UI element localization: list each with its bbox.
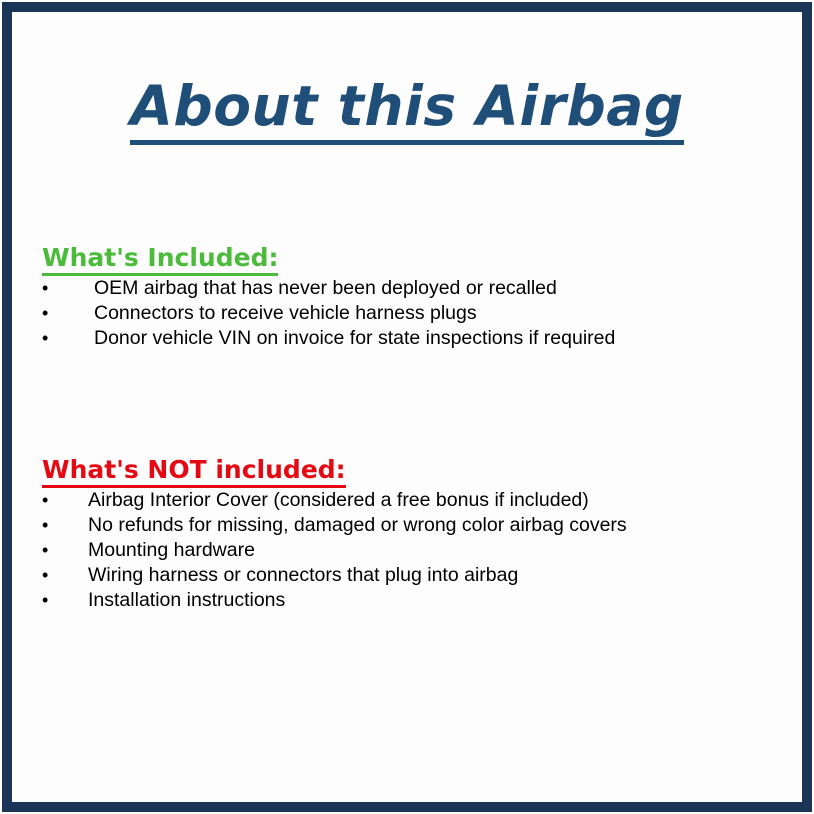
list-item: • Connectors to receive vehicle harness … (42, 301, 782, 326)
page-title: About this Airbag (130, 76, 683, 145)
list-item: • Wiring harness or connectors that plug… (42, 563, 782, 588)
bullet-icon: • (42, 276, 94, 301)
not-included-bullet-list: • Airbag Interior Cover (considered a fr… (42, 488, 782, 613)
list-item-label: No refunds for missing, damaged or wrong… (88, 513, 627, 538)
section-whats-not-included: What's NOT included: • Airbag Interior C… (42, 456, 782, 613)
list-item-label: Installation instructions (88, 588, 285, 613)
list-item: • No refunds for missing, damaged or wro… (42, 513, 782, 538)
list-item: • OEM airbag that has never been deploye… (42, 276, 782, 301)
document-content-area: About this Airbag What's Included: • OEM… (12, 12, 802, 802)
included-bullet-list: • OEM airbag that has never been deploye… (42, 276, 782, 351)
bullet-icon: • (42, 588, 88, 613)
list-item-label: Mounting hardware (88, 538, 255, 563)
list-item: • Airbag Interior Cover (considered a fr… (42, 488, 782, 513)
list-item-label: OEM airbag that has never been deployed … (94, 276, 557, 301)
bullet-icon: • (42, 538, 88, 563)
bullet-icon: • (42, 513, 88, 538)
section-heading-not-included: What's NOT included: (42, 456, 346, 488)
list-item-label: Donor vehicle VIN on invoice for state i… (94, 326, 615, 351)
bullet-icon: • (42, 488, 88, 513)
list-item-label: Airbag Interior Cover (considered a free… (88, 488, 589, 513)
section-whats-included: What's Included: • OEM airbag that has n… (42, 244, 782, 351)
list-item: • Mounting hardware (42, 538, 782, 563)
section-heading-included: What's Included: (42, 244, 278, 276)
list-item: • Donor vehicle VIN on invoice for state… (42, 326, 782, 351)
document-border-frame: About this Airbag What's Included: • OEM… (2, 2, 812, 812)
page-title-container: About this Airbag (12, 76, 802, 145)
list-item-label: Wiring harness or connectors that plug i… (88, 563, 518, 588)
list-item: • Installation instructions (42, 588, 782, 613)
page-root: About this Airbag What's Included: • OEM… (0, 0, 814, 814)
list-item-label: Connectors to receive vehicle harness pl… (94, 301, 477, 326)
bullet-icon: • (42, 326, 94, 351)
bullet-icon: • (42, 563, 88, 588)
bullet-icon: • (42, 301, 94, 326)
